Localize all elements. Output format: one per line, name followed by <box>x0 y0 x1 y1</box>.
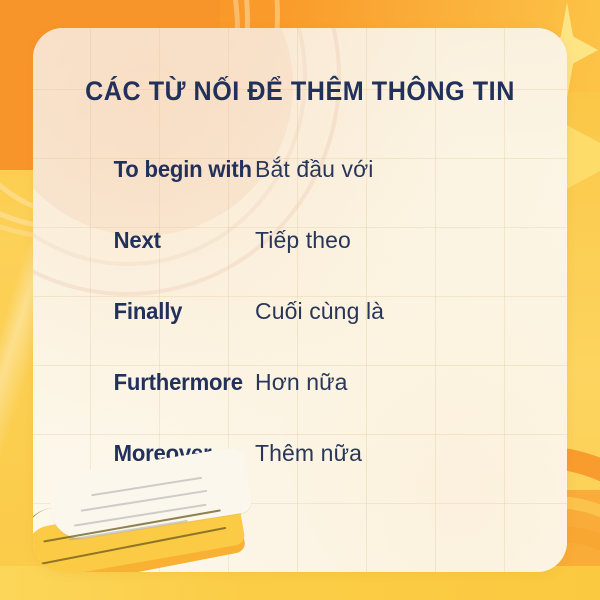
list-item: Next Tiếp theo <box>33 227 567 298</box>
list-item: Finally Cuối cùng là <box>33 298 567 369</box>
content-card: CÁC TỪ NỐI ĐỂ THÊM THÔNG TIN To begin wi… <box>33 28 567 572</box>
vietnamese-term: Cuối cùng là <box>255 298 384 325</box>
books-illustration-icon <box>33 437 272 572</box>
book-spine-curve <box>33 505 86 572</box>
list-item: Furthermore Hơn nữa <box>33 369 567 440</box>
vietnamese-term: Bắt đầu với <box>255 156 373 183</box>
list-item: To begin with Bắt đầu với <box>33 156 567 227</box>
vietnamese-term: Thêm nữa <box>255 440 362 467</box>
page-title: CÁC TỪ NỐI ĐỂ THÊM THÔNG TIN <box>52 76 549 107</box>
english-term: Furthermore <box>33 369 246 396</box>
english-term: Next <box>33 227 246 254</box>
english-term: To begin with <box>33 156 246 183</box>
poster-canvas: CÁC TỪ NỐI ĐỂ THÊM THÔNG TIN To begin wi… <box>0 0 600 600</box>
english-term: Finally <box>33 298 246 325</box>
vietnamese-term: Tiếp theo <box>255 227 351 254</box>
vietnamese-term: Hơn nữa <box>255 369 348 396</box>
